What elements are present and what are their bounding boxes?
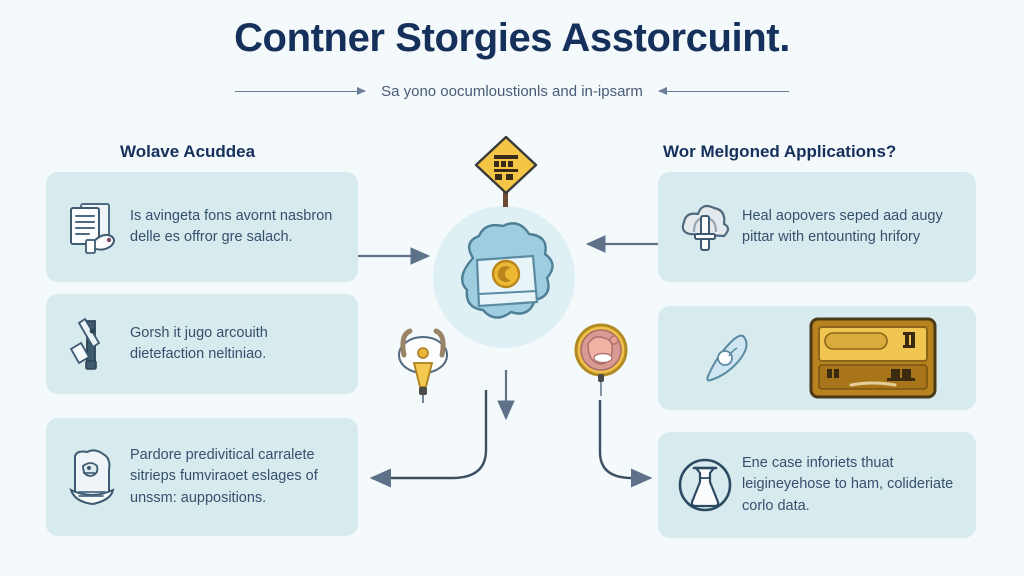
tools-ruler-icon — [60, 315, 126, 373]
right-card-3-text: Ene case inforiets thuat leigineyehose t… — [738, 453, 962, 516]
cloud-brain-box-coin-icon — [433, 206, 575, 348]
left-card-2[interactable]: Gorsh it jugo arcouith dietefaction nelt… — [46, 294, 358, 394]
page-title: Contner Storgies Asstorcuint. — [0, 16, 1024, 61]
right-card-1-text: Heal aopovers seped aad augy pittar with… — [738, 206, 962, 248]
infographic-canvas: Contner Storgies Asstorcuint. Sa yono oo… — [0, 0, 1024, 576]
arrow-right-icon — [235, 91, 365, 92]
right-card-1[interactable]: Heal aopovers seped aad augy pittar with… — [658, 172, 976, 282]
headset-device-icon — [392, 325, 454, 403]
left-card-1[interactable]: Is avingeta fons avornt nasbron delle es… — [46, 172, 358, 282]
left-card-2-text: Gorsh it jugo arcouith dietefaction nelt… — [126, 323, 344, 365]
arrow-left-icon — [659, 91, 789, 92]
right-column-heading: Wor Melgoned Applications? — [663, 142, 896, 162]
center-hub — [433, 206, 575, 348]
left-column-heading: Wolave Acuddea — [120, 142, 255, 162]
yellow-diamond-warning-sign — [470, 133, 542, 209]
document-hand-icon — [60, 198, 126, 256]
flask-circle-icon — [672, 456, 738, 514]
gold-badge-face-icon — [570, 322, 632, 396]
left-card-3[interactable]: Pardore predivitical carralete sitrieps … — [46, 418, 358, 536]
right-card-3[interactable]: Ene case inforiets thuat leigineyehose t… — [658, 432, 976, 538]
scroll-face-icon — [60, 446, 126, 508]
left-card-3-text: Pardore predivitical carralete sitrieps … — [126, 445, 344, 508]
gold-card-icon — [807, 315, 939, 401]
cloud-key-icon — [672, 198, 738, 256]
right-card-2[interactable] — [658, 306, 976, 410]
page-subtitle: Sa yono oocumloustionls and in-ipsarm — [381, 83, 643, 100]
left-card-1-text: Is avingeta fons avornt nasbron delle es… — [126, 206, 344, 248]
subtitle-row: Sa yono oocumloustionls and in-ipsarm — [0, 78, 1024, 104]
leaf-pen-icon — [695, 328, 761, 388]
